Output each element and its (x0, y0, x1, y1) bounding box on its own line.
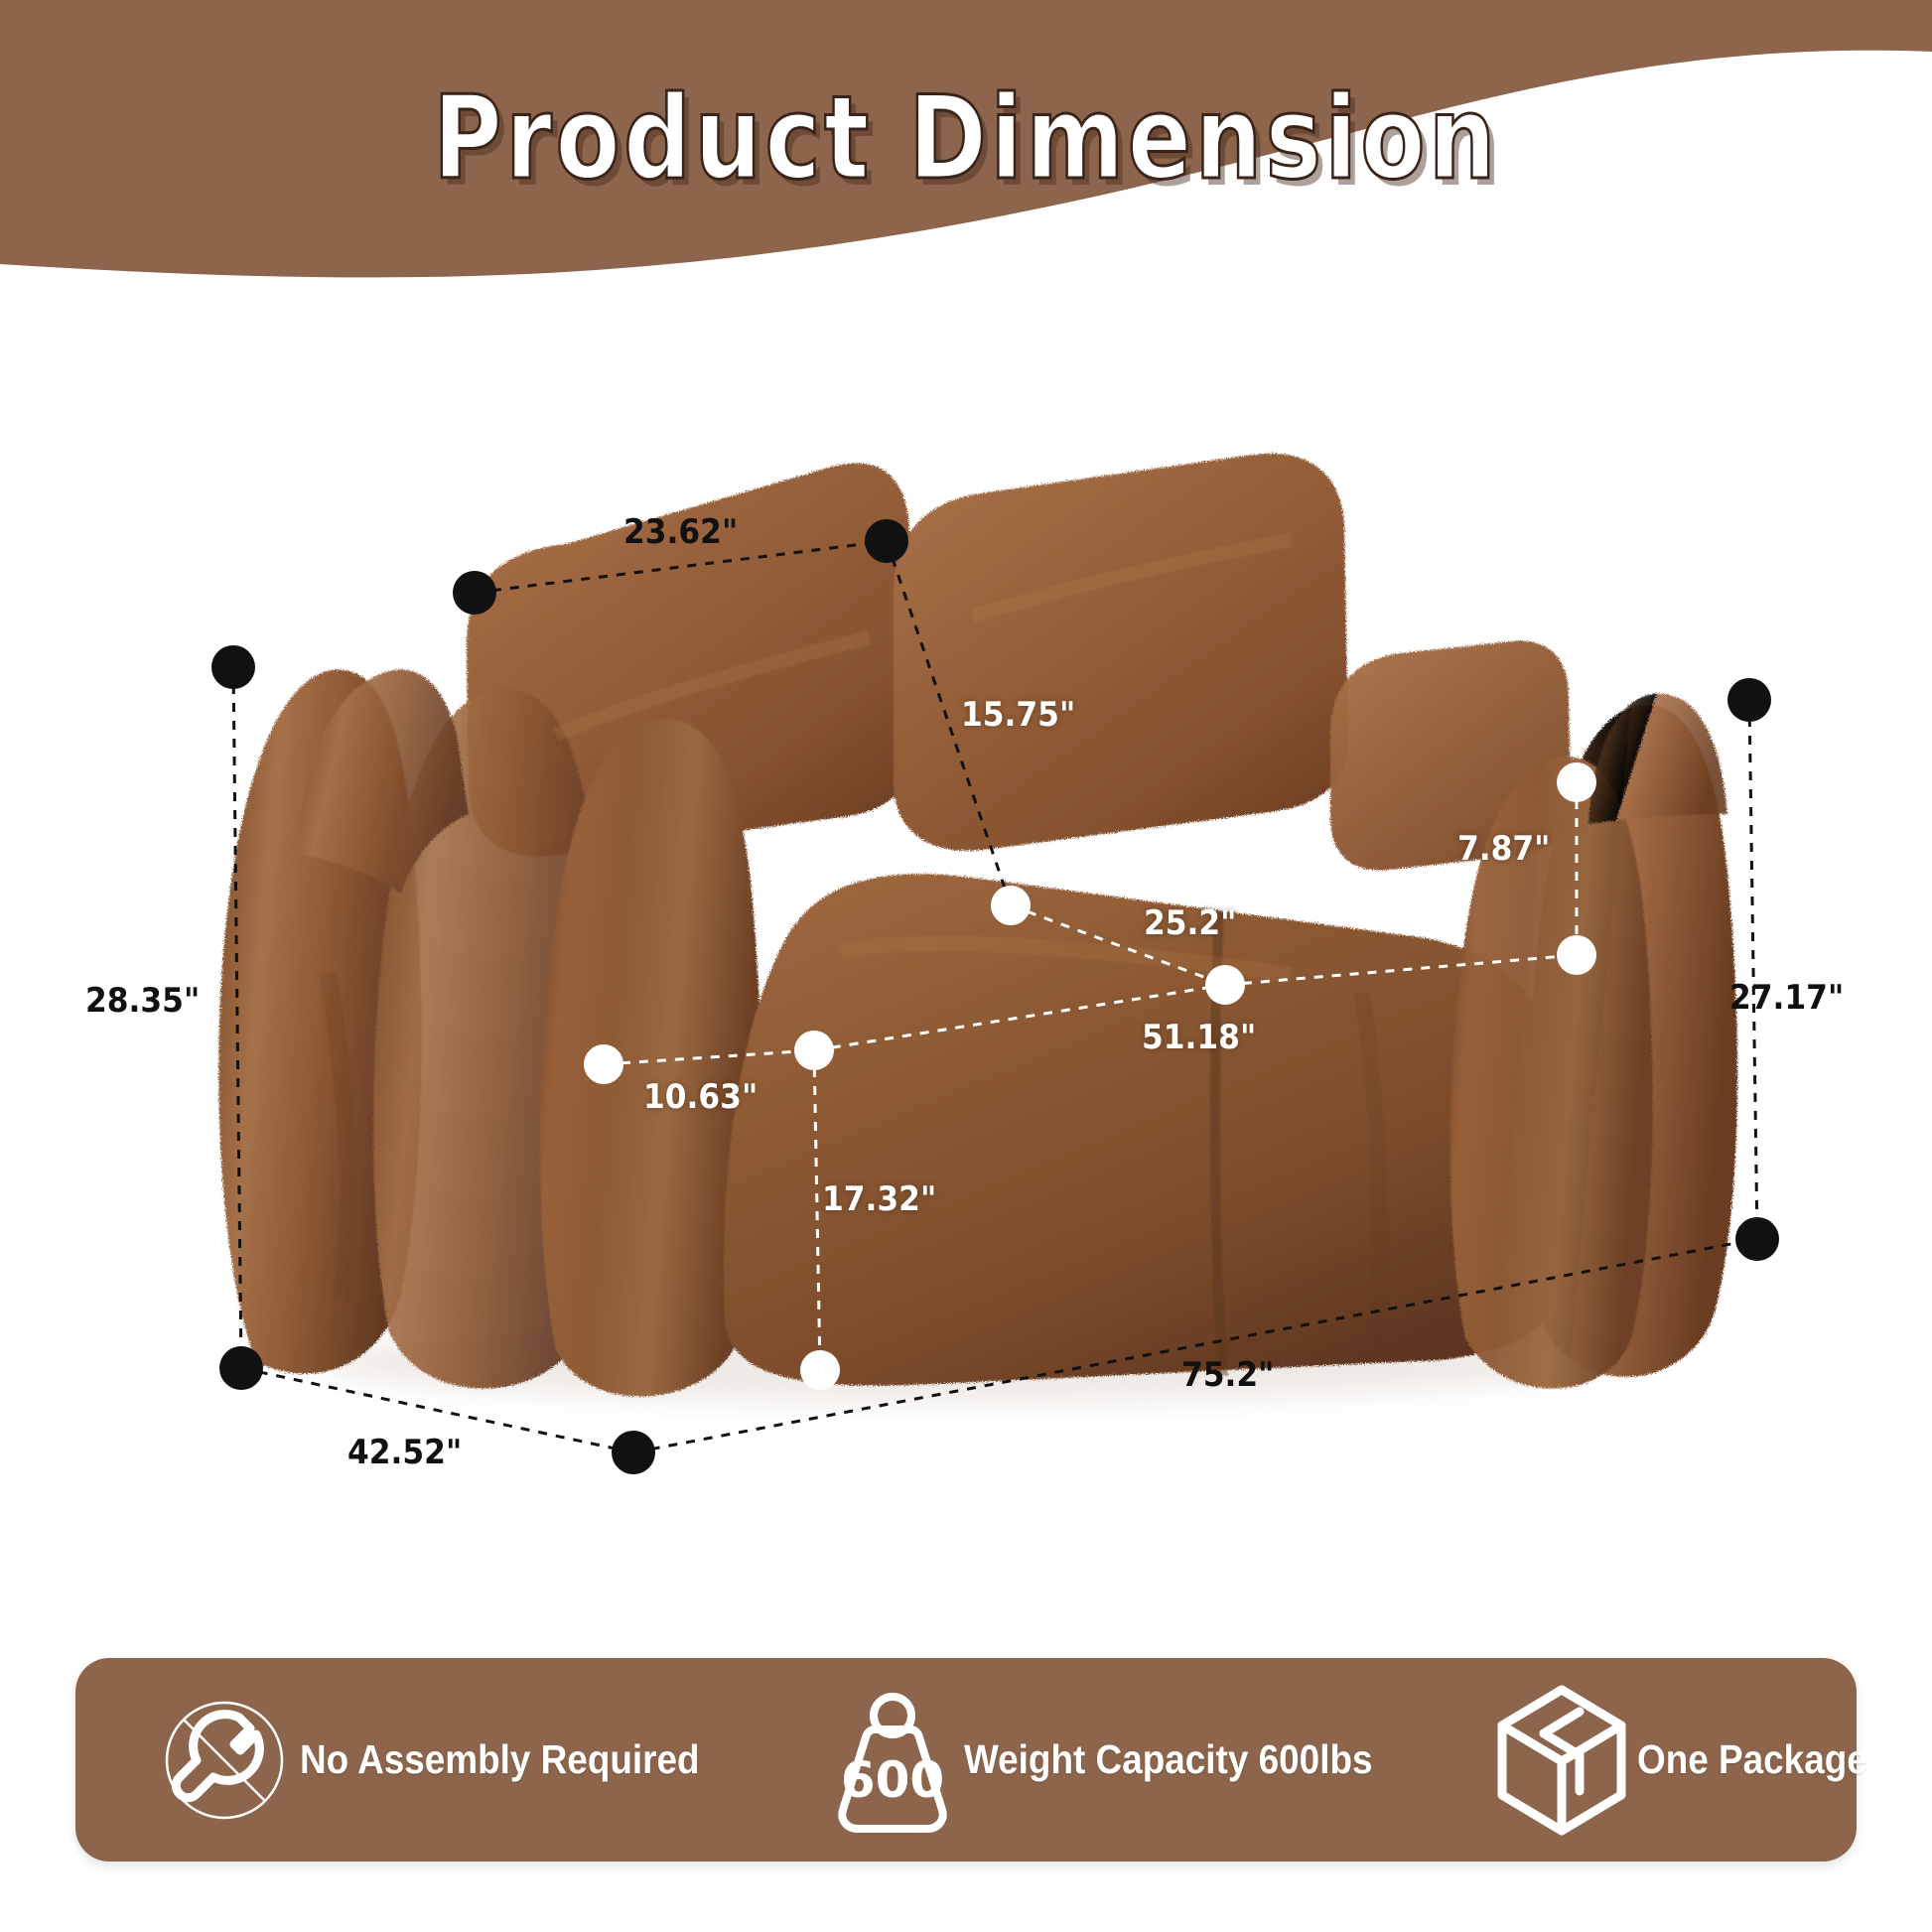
dimension-label-seat-height: 17.32" (822, 1179, 936, 1219)
feature-one-package: One Package (1492, 1682, 1893, 1839)
leader-line-arm-width (604, 1050, 814, 1064)
dimension-label-arm-height: 7.87" (1457, 829, 1550, 869)
dimension-label-seat-depth: 25.2" (1144, 903, 1236, 943)
dimension-label-right-height: 27.17" (1729, 978, 1844, 1018)
marker-dot-white (584, 1044, 623, 1084)
page-title: Product Dimension (174, 71, 1758, 206)
dimension-label-pillow-width: 23.62" (623, 512, 738, 552)
feature-weight-capacity: 600 Weight Capacity 600lbs (827, 1686, 1418, 1835)
marker-dot-black (219, 1346, 263, 1390)
marker-dot-black (1735, 1217, 1779, 1261)
feature-no-assembly: No Assembly Required (155, 1691, 744, 1830)
marker-dot-white (800, 1350, 840, 1390)
package-box-icon (1492, 1682, 1631, 1839)
marker-dot-white (1557, 935, 1596, 975)
marker-dot-white (794, 1031, 834, 1070)
feature-label-one-package: One Package (1637, 1736, 1867, 1783)
leader-line-seat-height (814, 1050, 820, 1370)
marker-dot-white (991, 886, 1031, 925)
dimension-label-seat-width: 51.18" (1142, 1018, 1256, 1057)
marker-dot-black (1727, 678, 1771, 722)
marker-dot-black (211, 645, 255, 689)
leader-line-right-height (1749, 700, 1757, 1239)
crossed-wrench-icon (155, 1691, 294, 1830)
leader-line-seat-width (1225, 955, 1577, 985)
marker-dot-white (1557, 762, 1596, 802)
dimension-label-overall-height: 28.35" (85, 981, 200, 1021)
marker-dot-black (612, 1431, 655, 1474)
marker-dot-black (453, 571, 496, 615)
leader-line-overall-length (633, 1239, 1757, 1452)
dimension-label-overall-length: 75.2" (1181, 1355, 1274, 1395)
dimension-label-pillow-depth: 15.75" (961, 695, 1075, 735)
marker-dot-black (865, 519, 908, 563)
weight-icon: 600 (827, 1686, 958, 1835)
weight-badge-value: 600 (841, 1751, 944, 1809)
feature-label-weight-capacity: Weight Capacity 600lbs (964, 1736, 1373, 1783)
feature-bar: No Assembly Required 600 Weight Capacity… (75, 1658, 1857, 1862)
dimension-annotation-layer (0, 0, 1932, 1932)
leader-line-overall-height (233, 667, 241, 1368)
dimension-label-arm-width: 10.63" (643, 1077, 758, 1117)
feature-label-no-assembly: No Assembly Required (300, 1736, 700, 1783)
marker-dot-white (1205, 965, 1245, 1005)
dimension-label-overall-depth: 42.52" (347, 1433, 462, 1472)
product-dimension-infographic: Product Dimension (0, 0, 1932, 1932)
